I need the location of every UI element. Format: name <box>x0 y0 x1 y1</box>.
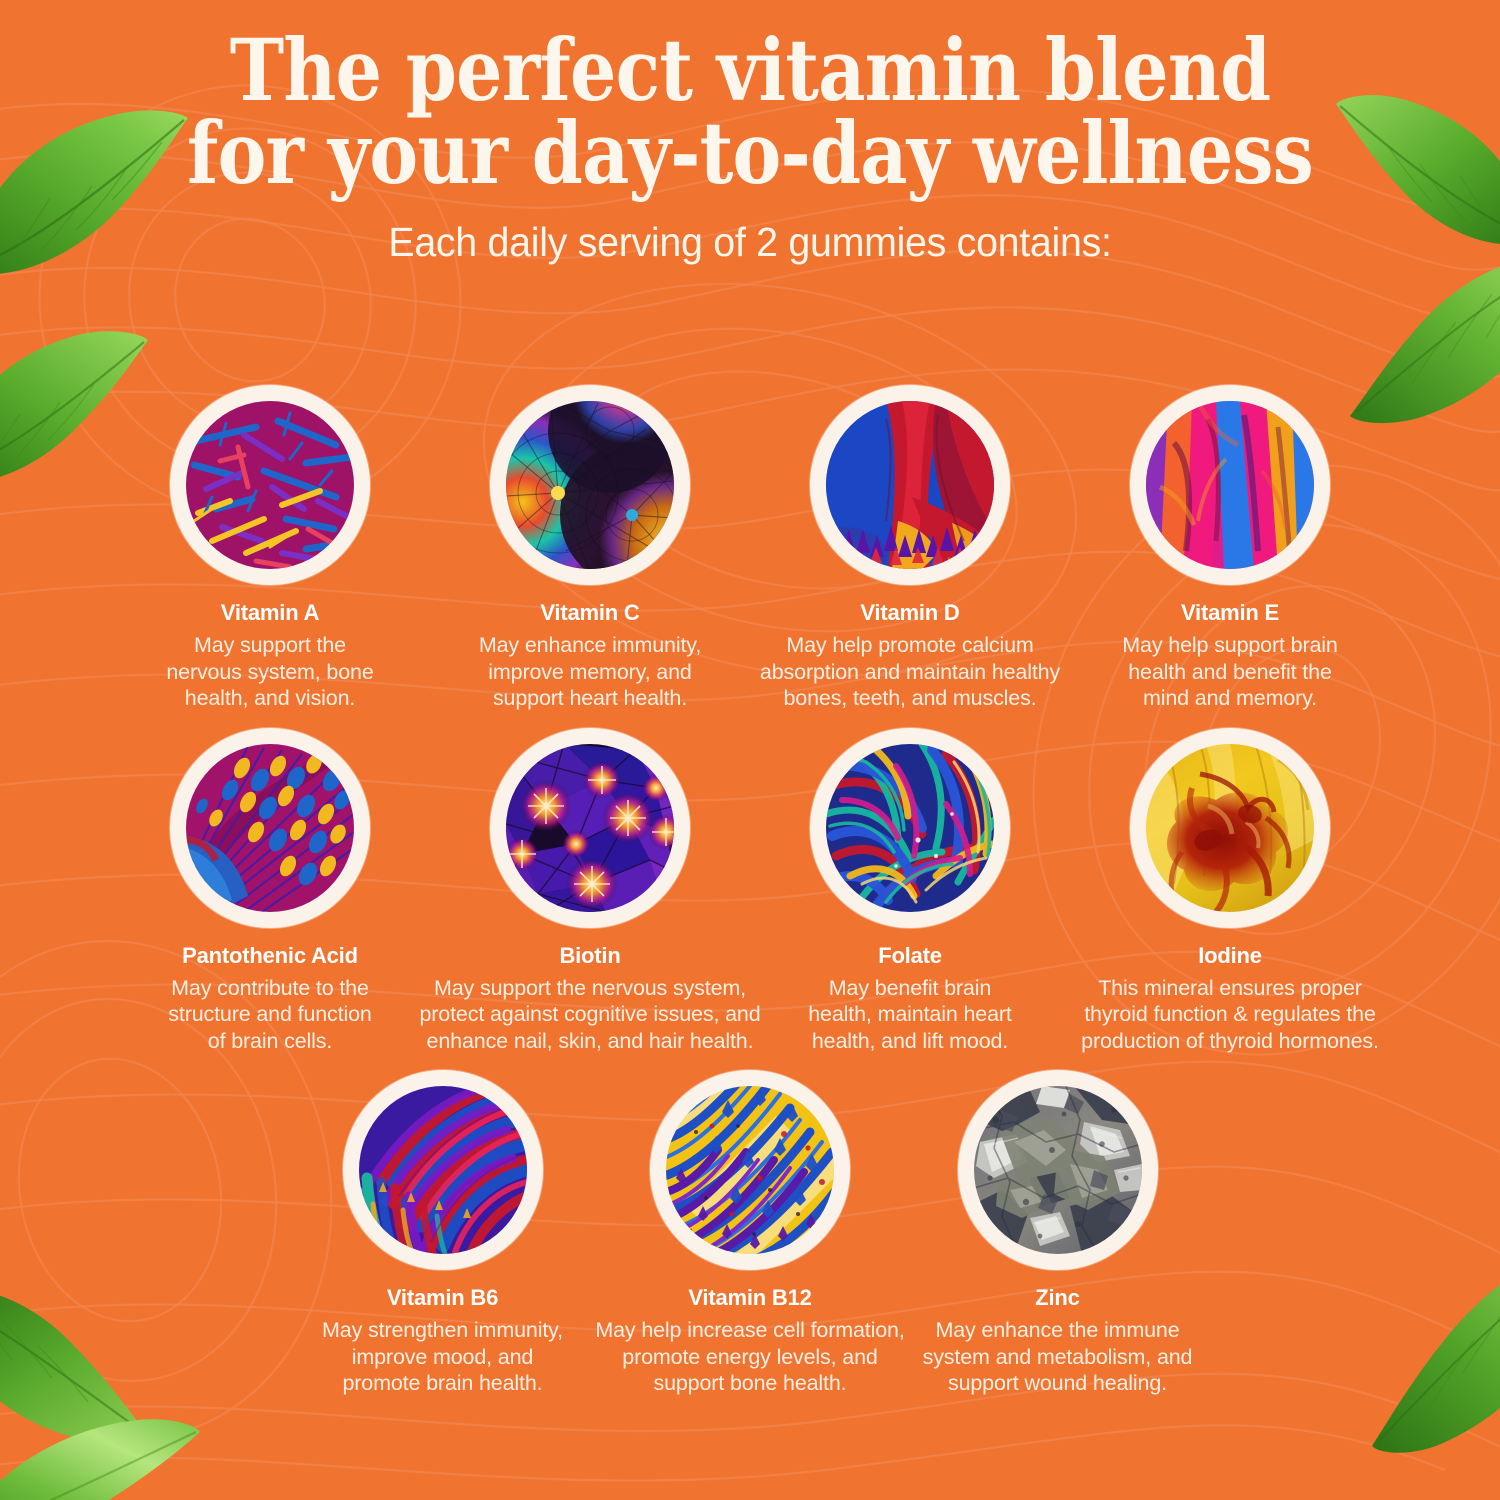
nutrient-grid: Vitamin A May support the nervous system… <box>0 385 1500 1397</box>
nutrient-card-biotin: Biotin May support the nervous system, p… <box>430 728 750 1055</box>
zinc-mineral-photo <box>974 1086 1142 1254</box>
nutrient-description: May help support brain health and benefi… <box>1122 632 1337 711</box>
nutrient-name: Vitamin B6 <box>387 1286 498 1310</box>
nutrient-description: May enhance immunity, improve memory, an… <box>479 632 701 711</box>
nutrient-name: Vitamin E <box>1181 601 1279 625</box>
leaf-bottom-left-lower <box>0 1414 201 1500</box>
nutrient-name: Pantothenic Acid <box>182 944 358 968</box>
nutrient-description: May help promote calcium absorption and … <box>745 632 1075 711</box>
circle-frame <box>343 1070 543 1270</box>
nutrient-description: May contribute to the structure and func… <box>168 975 371 1054</box>
circle-frame <box>490 728 690 928</box>
vitamin-b6-crystal-photo <box>359 1086 527 1254</box>
nutrient-description: May help increase cell formation, promot… <box>578 1317 923 1396</box>
headline-line-1: The perfect vitamin blend <box>105 30 1395 113</box>
header: The perfect vitamin blend for your day-t… <box>0 30 1500 266</box>
nutrient-card-vitamin-c: Vitamin C May enhance immunity, improve … <box>430 385 750 712</box>
vitamin-a-crystal-photo <box>186 401 354 569</box>
circle-frame <box>1130 728 1330 928</box>
nutrient-description: May strengthen immunity, improve mood, a… <box>322 1317 563 1396</box>
nutrient-card-vitamin-b6: Vitamin B6 May strengthen immunity, impr… <box>295 1070 590 1397</box>
nutrient-description: May enhance the immune system and metabo… <box>923 1317 1193 1396</box>
nutrient-card-folate: Folate May benefit brain health, maintai… <box>750 728 1070 1055</box>
circle-frame <box>1130 385 1330 585</box>
nutrient-name: Iodine <box>1198 944 1262 968</box>
nutrient-description: This mineral ensures proper thyroid func… <box>1058 975 1403 1054</box>
folate-crystal-photo <box>826 744 994 912</box>
circle-frame <box>170 728 370 928</box>
vitamin-e-crystal-photo <box>1146 401 1314 569</box>
circle-frame <box>958 1070 1158 1270</box>
headline-line-2: for your day-to-day wellness <box>105 113 1395 196</box>
page-title: The perfect vitamin blend for your day-t… <box>105 30 1395 197</box>
vitamin-b12-crystal-photo <box>666 1086 834 1254</box>
nutrient-card-iodine: Iodine This mineral ensures proper thyro… <box>1070 728 1390 1055</box>
infographic-poster: The perfect vitamin blend for your day-t… <box>0 0 1500 1500</box>
iodine-photo <box>1146 744 1314 912</box>
nutrient-name: Biotin <box>559 944 620 968</box>
nutrient-name: Zinc <box>1035 1286 1079 1310</box>
pantothenic-acid-crystal-photo <box>186 744 354 912</box>
nutrient-card-vitamin-d: Vitamin D May help promote calcium absor… <box>750 385 1070 712</box>
nutrient-description: May support the nervous system, protect … <box>418 975 763 1054</box>
nutrient-row-1: Vitamin A May support the nervous system… <box>0 385 1500 712</box>
nutrient-card-vitamin-a: Vitamin A May support the nervous system… <box>110 385 430 712</box>
vitamin-d-crystal-photo <box>826 401 994 569</box>
nutrient-name: Vitamin B12 <box>688 1286 811 1310</box>
circle-frame <box>810 385 1010 585</box>
nutrient-name: Vitamin A <box>221 601 319 625</box>
vitamin-c-crystal-photo <box>506 401 674 569</box>
nutrient-name: Vitamin C <box>540 601 639 625</box>
nutrient-name: Vitamin D <box>860 601 959 625</box>
nutrient-card-vitamin-b12: Vitamin B12 May help increase cell forma… <box>590 1070 910 1397</box>
nutrient-row-2: Pantothenic Acid May contribute to the s… <box>0 728 1500 1055</box>
circle-frame <box>650 1070 850 1270</box>
circle-frame <box>490 385 690 585</box>
biotin-crystal-photo <box>506 744 674 912</box>
nutrient-card-vitamin-e: Vitamin E May help support brain health … <box>1070 385 1390 712</box>
circle-frame <box>810 728 1010 928</box>
nutrient-description: May benefit brain health, maintain heart… <box>808 975 1011 1054</box>
nutrient-description: May support the nervous system, bone hea… <box>166 632 373 711</box>
nutrient-card-pantothenic-acid: Pantothenic Acid May contribute to the s… <box>110 728 430 1055</box>
subheadline: Each daily serving of 2 gummies contains… <box>30 219 1470 266</box>
nutrient-name: Folate <box>878 944 942 968</box>
circle-frame <box>170 385 370 585</box>
nutrient-card-zinc: Zinc May enhance the immune system and m… <box>910 1070 1205 1397</box>
nutrient-row-3: Vitamin B6 May strengthen immunity, impr… <box>0 1070 1500 1397</box>
